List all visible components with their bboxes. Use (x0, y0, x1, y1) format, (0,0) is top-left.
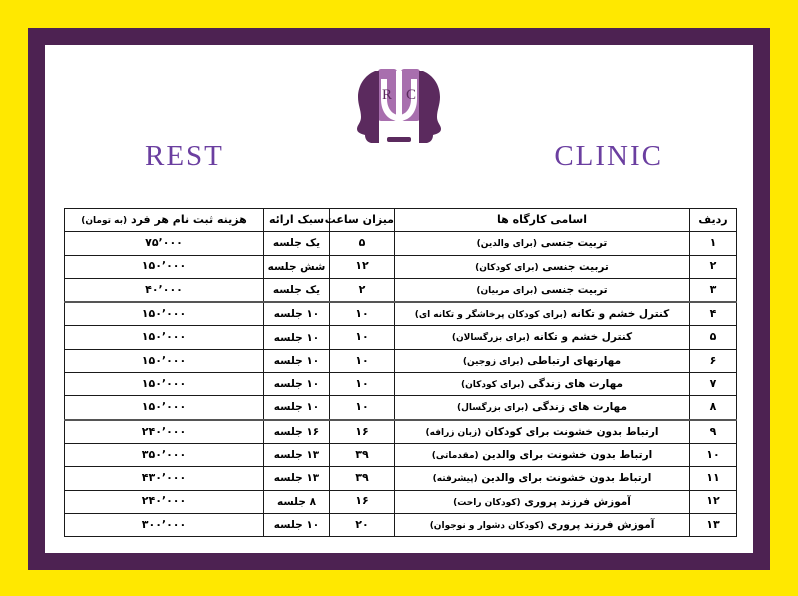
workshop-title: ارتباط بدون خشونت برای کودکان (485, 426, 659, 438)
cell-hours: ۱۰ (330, 349, 395, 372)
cell-fee: ۱۵۰٬۰۰۰ (65, 396, 264, 420)
wordmark-rest: REST (145, 140, 224, 173)
cell-fee: ۱۵۰٬۰۰۰ (65, 255, 264, 278)
workshop-qualifier: (زبان زرافه) (426, 428, 482, 438)
cell-fee: ۳۰۰٬۰۰۰ (65, 513, 264, 536)
logo-letter-c: C (406, 87, 416, 103)
header-workshop-name: اسامی کارگاه ها (395, 209, 690, 232)
cell-fee: ۷۵٬۰۰۰ (65, 232, 264, 255)
cell-radif: ۱۱ (690, 467, 737, 490)
cell-fee: ۳۵۰٬۰۰۰ (65, 443, 264, 466)
cell-style: ۱۰ جلسه (264, 396, 330, 420)
poster-canvas: R C REST CLINIC (0, 0, 798, 596)
cell-fee: ۴۰٬۰۰۰ (65, 278, 264, 302)
cell-hours: ۱۰ (330, 373, 395, 396)
header-radif: ردیف (690, 209, 737, 232)
cell-fee: ۱۵۰٬۰۰۰ (65, 302, 264, 326)
cell-style: ۱۳ جلسه (264, 443, 330, 466)
workshop-title: آموزش فرزند پروری (524, 496, 631, 508)
table-row: ۶مهارتهای ارتباطی (برای زوجین)۱۰۱۰ جلسه۱… (65, 349, 737, 372)
table-header-row: ردیف اسامی کارگاه ها میزان ساعت سبک ارائ… (65, 209, 737, 232)
clinic-logo: R C (345, 65, 453, 145)
table-row: ۱تربیت جنسی (برای والدین)۵یک جلسه۷۵٬۰۰۰ (65, 232, 737, 255)
table-header: ردیف اسامی کارگاه ها میزان ساعت سبک ارائ… (65, 209, 737, 232)
cell-radif: ۴ (690, 302, 737, 326)
cell-workshop-name: ارتباط بدون خشونت برای والدین (مقدماتی) (395, 443, 690, 466)
cell-hours: ۱۲ (330, 255, 395, 278)
workshop-qualifier: (کودکان راحت) (453, 498, 520, 508)
cell-style: ۱۶ جلسه (264, 420, 330, 444)
header-fee: هزینه ثبت نام هر فرد (به تومان) (65, 209, 264, 232)
brand-header: R C REST CLINIC (45, 45, 753, 185)
workshop-title: ارتباط بدون خشونت برای والدین (482, 449, 652, 461)
workshop-qualifier: (برای زوجین) (463, 357, 524, 367)
workshop-qualifier: (برای بزرگسالان) (452, 333, 530, 343)
table-row: ۹ارتباط بدون خشونت برای کودکان (زبان زرا… (65, 420, 737, 444)
cell-hours: ۵ (330, 232, 395, 255)
cell-hours: ۱۰ (330, 396, 395, 420)
workshop-qualifier: (برای کودکان) (475, 263, 538, 273)
cell-style: ۱۰ جلسه (264, 373, 330, 396)
workshop-title: تربیت جنسی (542, 261, 609, 273)
workshop-qualifier: (برای والدین) (477, 239, 537, 249)
cell-fee: ۱۵۰٬۰۰۰ (65, 373, 264, 396)
workshop-qualifier: (مقدماتی) (432, 451, 479, 461)
cell-fee: ۴۳۰٬۰۰۰ (65, 467, 264, 490)
cell-style: ۱۰ جلسه (264, 513, 330, 536)
cell-fee: ۱۵۰٬۰۰۰ (65, 349, 264, 372)
cell-style: یک جلسه (264, 278, 330, 302)
table-row: ۲تربیت جنسی (برای کودکان)۱۲شش جلسه۱۵۰٬۰۰… (65, 255, 737, 278)
workshop-price-table-wrapper: ردیف اسامی کارگاه ها میزان ساعت سبک ارائ… (65, 208, 737, 537)
cell-fee: ۲۴۰٬۰۰۰ (65, 420, 264, 444)
cell-radif: ۷ (690, 373, 737, 396)
table-row: ۴کنترل خشم و تکانه (برای کودکان پرخاشگر … (65, 302, 737, 326)
workshop-qualifier: (پیشرفته) (433, 474, 478, 484)
cell-radif: ۱۳ (690, 513, 737, 536)
cell-workshop-name: مهارت های زندگی (برای کودکان) (395, 373, 690, 396)
cell-workshop-name: مهارتهای ارتباطی (برای زوجین) (395, 349, 690, 372)
table-row: ۱۱ارتباط بدون خشونت برای والدین (پیشرفته… (65, 467, 737, 490)
cell-hours: ۳۹ (330, 443, 395, 466)
workshop-qualifier: (برای مربیان) (476, 286, 537, 296)
white-content-card: R C REST CLINIC (45, 45, 753, 553)
table-row: ۱۳آموزش فرزند پروری (کودکان دشوار و نوجو… (65, 513, 737, 536)
cell-style: ۱۰ جلسه (264, 349, 330, 372)
workshop-title: مهارت های زندگی (532, 401, 627, 413)
workshop-qualifier: (برای بزرگسال) (457, 403, 528, 413)
cell-style: ۱۳ جلسه (264, 467, 330, 490)
table-row: ۳تربیت جنسی (برای مربیان)۲یک جلسه۴۰٬۰۰۰ (65, 278, 737, 302)
workshop-title: تربیت جنسی (541, 284, 608, 296)
cell-style: ۸ جلسه (264, 490, 330, 513)
cell-workshop-name: تربیت جنسی (برای کودکان) (395, 255, 690, 278)
cell-style: ۱۰ جلسه (264, 326, 330, 349)
cell-radif: ۸ (690, 396, 737, 420)
workshop-title: تربیت جنسی (541, 237, 608, 249)
workshop-title: کنترل خشم و تکانه (534, 331, 633, 343)
wordmark-clinic: CLINIC (554, 140, 663, 173)
cell-workshop-name: ارتباط بدون خشونت برای والدین (پیشرفته) (395, 467, 690, 490)
cell-workshop-name: کنترل خشم و تکانه (برای کودکان پرخاشگر و… (395, 302, 690, 326)
cell-radif: ۱۲ (690, 490, 737, 513)
cell-style: یک جلسه (264, 232, 330, 255)
two-faces-psi-logo-icon: R C (345, 65, 453, 145)
workshop-price-table: ردیف اسامی کارگاه ها میزان ساعت سبک ارائ… (64, 208, 737, 537)
header-style: سبک ارائه (264, 209, 330, 232)
header-fee-main: هزینه ثبت نام هر فرد (131, 213, 247, 226)
cell-workshop-name: تربیت جنسی (برای مربیان) (395, 278, 690, 302)
cell-workshop-name: آموزش فرزند پروری (کودکان راحت) (395, 490, 690, 513)
table-row: ۱۲آموزش فرزند پروری (کودکان راحت)۱۶۸ جلس… (65, 490, 737, 513)
cell-hours: ۲۰ (330, 513, 395, 536)
cell-radif: ۵ (690, 326, 737, 349)
workshop-qualifier: (برای کودکان) (461, 380, 524, 390)
table-row: ۵کنترل خشم و تکانه (برای بزرگسالان)۱۰۱۰ … (65, 326, 737, 349)
cell-hours: ۱۰ (330, 302, 395, 326)
cell-workshop-name: کنترل خشم و تکانه (برای بزرگسالان) (395, 326, 690, 349)
cell-workshop-name: آموزش فرزند پروری (کودکان دشوار و نوجوان… (395, 513, 690, 536)
header-hours: میزان ساعت (330, 209, 395, 232)
cell-hours: ۱۶ (330, 490, 395, 513)
workshop-title: آموزش فرزند پروری (548, 519, 655, 531)
cell-style: ۱۰ جلسه (264, 302, 330, 326)
cell-hours: ۲ (330, 278, 395, 302)
cell-hours: ۱۶ (330, 420, 395, 444)
cell-radif: ۱۰ (690, 443, 737, 466)
workshop-title: مهارت های زندگی (528, 378, 623, 390)
workshop-qualifier: (برای کودکان پرخاشگر و تکانه ای) (415, 310, 567, 320)
cell-workshop-name: مهارت های زندگی (برای بزرگسال) (395, 396, 690, 420)
cell-fee: ۲۴۰٬۰۰۰ (65, 490, 264, 513)
workshop-title: ارتباط بدون خشونت برای والدین (481, 472, 651, 484)
cell-workshop-name: تربیت جنسی (برای والدین) (395, 232, 690, 255)
cell-fee: ۱۵۰٬۰۰۰ (65, 326, 264, 349)
cell-radif: ۹ (690, 420, 737, 444)
cell-radif: ۲ (690, 255, 737, 278)
header-fee-sub: (به تومان) (81, 216, 127, 226)
workshop-title: مهارتهای ارتباطی (527, 355, 621, 367)
cell-workshop-name: ارتباط بدون خشونت برای کودکان (زبان زراف… (395, 420, 690, 444)
cell-radif: ۱ (690, 232, 737, 255)
workshop-title: کنترل خشم و تکانه (571, 308, 670, 320)
workshop-qualifier: (کودکان دشوار و نوجوان) (430, 521, 544, 531)
table-body: ۱تربیت جنسی (برای والدین)۵یک جلسه۷۵٬۰۰۰۲… (65, 232, 737, 537)
cell-style: شش جلسه (264, 255, 330, 278)
purple-frame-border: R C REST CLINIC (28, 28, 770, 570)
table-row: ۱۰ارتباط بدون خشونت برای والدین (مقدماتی… (65, 443, 737, 466)
table-row: ۸مهارت های زندگی (برای بزرگسال)۱۰۱۰ جلسه… (65, 396, 737, 420)
logo-letter-r: R (382, 87, 392, 103)
cell-hours: ۱۰ (330, 326, 395, 349)
table-row: ۷مهارت های زندگی (برای کودکان)۱۰۱۰ جلسه۱… (65, 373, 737, 396)
cell-radif: ۳ (690, 278, 737, 302)
cell-hours: ۳۹ (330, 467, 395, 490)
cell-radif: ۶ (690, 349, 737, 372)
